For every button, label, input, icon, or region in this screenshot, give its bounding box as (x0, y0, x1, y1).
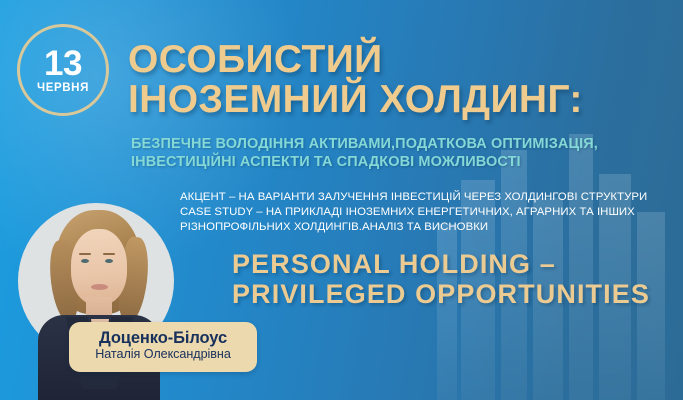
headline-line-2: ІНОЗЕМНИЙ ХОЛДИНГ: (128, 80, 673, 120)
headline-english-line-1: PERSONAL HOLDING – (232, 250, 682, 280)
speaker-name-plate: Доценко-Білоус Наталія Олександрівна (69, 322, 257, 372)
speaker-surname: Доценко-Білоус (81, 329, 245, 347)
body-text: АКЦЕНТ – НА ВАРІАНТИ ЗАЛУЧЕННЯ ІНВЕСТИЦІ… (180, 190, 680, 235)
subtitle: БЕЗПЕЧНЕ ВОЛОДІННЯ АКТИВАМИ,ПОДАТКОВА ОП… (131, 135, 681, 172)
portrait-eye-left (81, 259, 89, 263)
date-month: ЧЕРВНЯ (37, 83, 89, 95)
headline: ОСОБИСТИЙ ІНОЗЕМНИЙ ХОЛДИНГ: (128, 40, 673, 120)
headline-english-line-2: PRIVILEGED OPPORTUNITIES (232, 280, 682, 310)
body-line-3: РІЗНОПРОФІЛЬНИХ ХОЛДИНГІВ.АНАЛІЗ ТА ВИСН… (180, 220, 680, 235)
subtitle-line-2: ІНВЕСТИЦІЙНІ АСПЕКТИ ТА СПАДКОВІ МОЖЛИВО… (131, 153, 681, 171)
speaker-given-name: Наталія Олександрівна (81, 347, 245, 363)
portrait-lips (91, 284, 108, 290)
subtitle-line-1: БЕЗПЕЧНЕ ВОЛОДІННЯ АКТИВАМИ,ПОДАТКОВА ОП… (131, 135, 681, 153)
date-badge: 13 ЧЕРВНЯ (17, 24, 109, 116)
body-line-2: CASE STUDY – НА ПРИКЛАДІ ІНОЗЕМНИХ ЕНЕРГ… (180, 205, 680, 220)
portrait-eyebrow-left (79, 253, 91, 255)
date-day: 13 (44, 46, 82, 81)
portrait-eyebrow-right (103, 253, 115, 255)
headline-english: PERSONAL HOLDING – PRIVILEGED OPPORTUNIT… (232, 250, 682, 309)
body-line-1: АКЦЕНТ – НА ВАРІАНТИ ЗАЛУЧЕННЯ ІНВЕСТИЦІ… (180, 190, 680, 205)
portrait-eye-right (105, 259, 113, 263)
promo-banner: 13 ЧЕРВНЯ ОСОБИСТИЙ ІНОЗЕМНИЙ ХОЛДИНГ: Б… (0, 0, 683, 400)
headline-line-1: ОСОБИСТИЙ (128, 40, 673, 80)
portrait-face (71, 229, 127, 305)
